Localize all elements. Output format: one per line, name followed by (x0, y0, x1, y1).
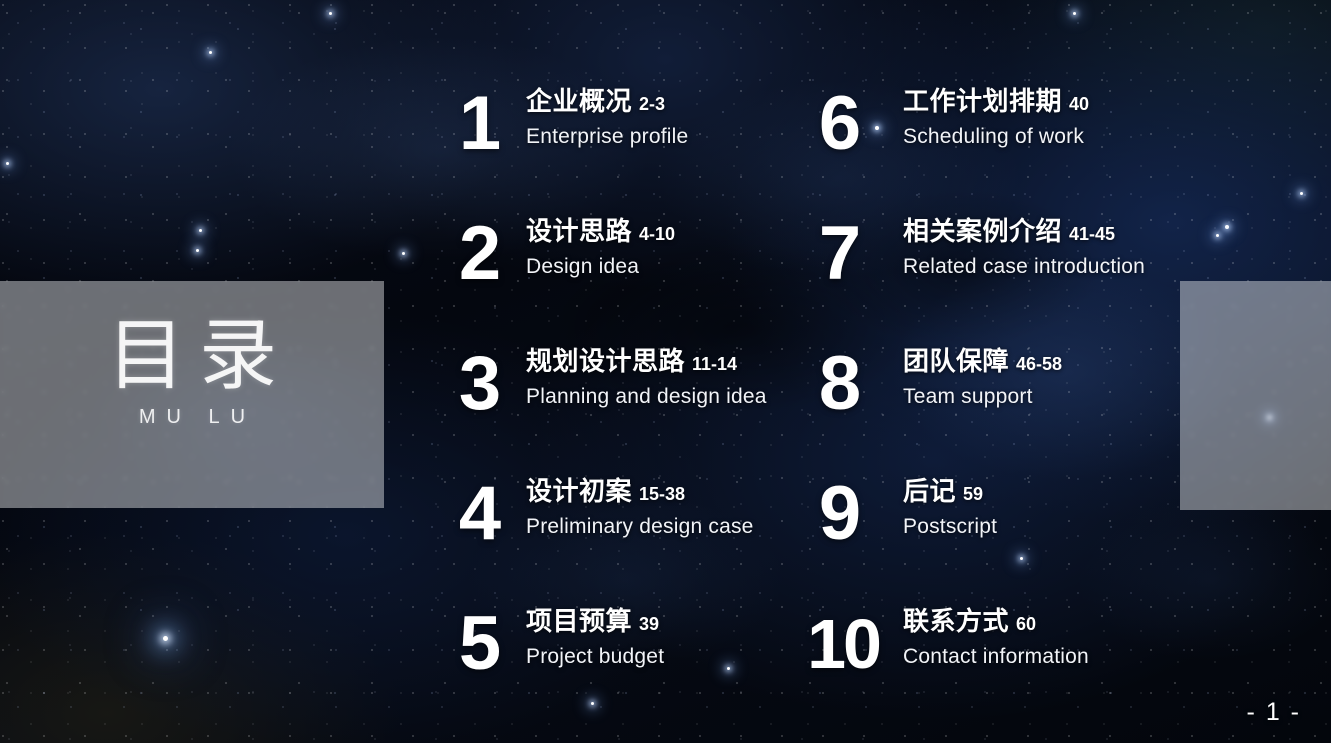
toc-item-number: 7 (800, 216, 878, 292)
toc-item-pages: 11-14 (692, 354, 737, 374)
toc-item-pages: 15-38 (639, 484, 685, 504)
toc-item-number: 8 (800, 346, 878, 422)
toc-item[interactable]: 6 工作计划排期40 Scheduling of work (800, 84, 1160, 214)
toc-item-title-cn: 规划设计思路 (526, 346, 685, 376)
toc-item-title-line: 设计思路4-10 (526, 214, 675, 253)
toc-item[interactable]: 3 规划设计思路11-14 Planning and design idea (440, 344, 790, 474)
toc-item-title-en: Project budget (526, 645, 664, 669)
bright-star-icon (329, 12, 332, 15)
toc-item-body: 企业概况2-3 Enterprise profile (526, 84, 688, 149)
toc-item-title-en: Related case introduction (903, 255, 1145, 279)
bright-star-icon (1073, 12, 1076, 15)
toc-item[interactable]: 2 设计思路4-10 Design idea (440, 214, 790, 344)
toc-item-body: 设计初案15-38 Preliminary design case (526, 474, 754, 539)
page-title: 目录 (0, 316, 384, 394)
toc-item-title-en: Postscript (903, 515, 997, 539)
toc-item-body: 规划设计思路11-14 Planning and design idea (526, 344, 767, 409)
toc-item-body: 工作计划排期40 Scheduling of work (903, 84, 1089, 149)
toc-item[interactable]: 9 后记59 Postscript (800, 474, 1160, 604)
toc-item-title-line: 工作计划排期40 (903, 84, 1089, 123)
toc-item-pages: 60 (1016, 614, 1036, 634)
toc-item-pages: 4-10 (639, 224, 675, 244)
toc-column-right: 6 工作计划排期40 Scheduling of work 7 相关案例介绍41… (800, 84, 1160, 734)
bright-star-icon (199, 229, 202, 232)
toc-item-pages: 2-3 (639, 94, 665, 114)
toc-item-pages: 41-45 (1069, 224, 1115, 244)
toc-item-body: 联系方式60 Contact information (903, 604, 1089, 669)
bright-star-icon (209, 51, 212, 54)
presentation-slide: 目录 MU LU 1 企业概况2-3 Enterprise profile 2 … (0, 0, 1331, 743)
toc-column-left: 1 企业概况2-3 Enterprise profile 2 设计思路4-10 … (440, 84, 790, 734)
toc-item-title-line: 联系方式60 (903, 604, 1089, 643)
toc-item-title-cn: 设计思路 (526, 216, 632, 246)
toc-item-title-line: 团队保障46-58 (903, 344, 1062, 383)
toc-item[interactable]: 10 联系方式60 Contact information (800, 604, 1160, 734)
toc-item-title-cn: 后记 (903, 476, 956, 506)
page-number: - 1 - (1247, 698, 1301, 727)
toc-item-title-line: 项目预算39 (526, 604, 664, 643)
toc-item-number: 9 (800, 476, 878, 552)
toc-item-title-en: Scheduling of work (903, 125, 1089, 149)
toc-item[interactable]: 4 设计初案15-38 Preliminary design case (440, 474, 790, 604)
toc-item-title-en: Enterprise profile (526, 125, 688, 149)
toc-item[interactable]: 1 企业概况2-3 Enterprise profile (440, 84, 790, 214)
toc-item-body: 团队保障46-58 Team support (903, 344, 1062, 409)
toc-item-title-cn: 项目预算 (526, 606, 632, 636)
toc-item-title-line: 企业概况2-3 (526, 84, 688, 123)
toc-item[interactable]: 7 相关案例介绍41-45 Related case introduction (800, 214, 1160, 344)
toc-item-title-cn: 团队保障 (903, 346, 1009, 376)
toc-item-title-line: 后记59 (903, 474, 997, 513)
page-title-subtitle: MU LU (0, 406, 384, 429)
bright-star-icon (1300, 192, 1303, 195)
bright-star-icon (196, 249, 199, 252)
bright-star-icon (1216, 234, 1219, 237)
toc-item-title-cn: 工作计划排期 (903, 86, 1062, 116)
toc-item-body: 相关案例介绍41-45 Related case introduction (903, 214, 1145, 279)
bright-star-icon (1225, 225, 1229, 229)
toc-item-title-line: 规划设计思路11-14 (526, 344, 767, 383)
toc-item-body: 项目预算39 Project budget (526, 604, 664, 669)
bright-star-icon (6, 162, 9, 165)
toc-item-body: 后记59 Postscript (903, 474, 997, 539)
slide-title-block: 目录 MU LU (0, 316, 384, 429)
toc-item-title-en: Design idea (526, 255, 675, 279)
toc-item-number: 2 (440, 216, 518, 292)
toc-item-number: 6 (800, 86, 878, 162)
toc-item-number: 5 (440, 606, 518, 682)
bright-star-icon (163, 636, 168, 641)
toc-item-number: 10 (800, 606, 886, 682)
toc-item-pages: 59 (963, 484, 983, 504)
toc-item-title-en: Team support (903, 385, 1062, 409)
toc-item-pages: 39 (639, 614, 659, 634)
toc-item-body: 设计思路4-10 Design idea (526, 214, 675, 279)
toc-item-title-line: 相关案例介绍41-45 (903, 214, 1145, 253)
toc-item[interactable]: 5 项目预算39 Project budget (440, 604, 790, 734)
toc-item-number: 3 (440, 346, 518, 422)
bright-star-icon (402, 252, 405, 255)
right-decorative-panel (1180, 281, 1331, 510)
toc-item-pages: 46-58 (1016, 354, 1062, 374)
toc-item-title-cn: 相关案例介绍 (903, 216, 1062, 246)
toc-item-title-en: Preliminary design case (526, 515, 754, 539)
toc-item-title-line: 设计初案15-38 (526, 474, 754, 513)
toc-item[interactable]: 8 团队保障46-58 Team support (800, 344, 1160, 474)
toc-item-title-cn: 联系方式 (903, 606, 1009, 636)
toc-item-number: 1 (440, 86, 518, 162)
toc-item-title-cn: 企业概况 (526, 86, 632, 116)
toc-item-title-cn: 设计初案 (526, 476, 632, 506)
toc-item-title-en: Contact information (903, 645, 1089, 669)
toc-item-pages: 40 (1069, 94, 1089, 114)
toc-item-title-en: Planning and design idea (526, 385, 767, 409)
toc-item-number: 4 (440, 476, 518, 552)
